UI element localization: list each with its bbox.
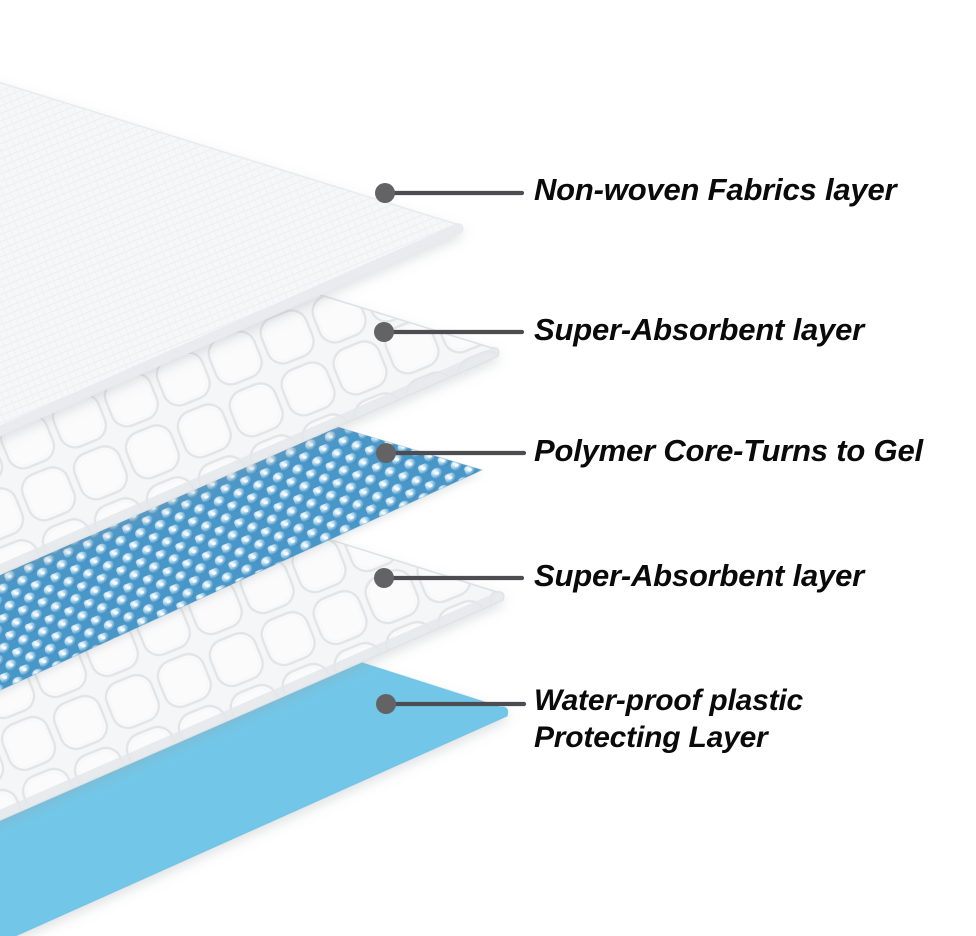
callout-label-super-absorbent-bottom: Super-Absorbent layer xyxy=(534,557,864,595)
callout-label-super-absorbent-top: Super-Absorbent layer xyxy=(534,311,864,349)
callout-label-polymer-core: Polymer Core-Turns to Gel xyxy=(534,432,923,470)
diagram-canvas: Non-woven Fabrics layer Super-Absorbent … xyxy=(0,0,976,936)
callout-label-water-proof-plastic: Water-proof plastic Protecting Layer xyxy=(534,682,803,756)
callout-label-non-woven-fabrics: Non-woven Fabrics layer xyxy=(534,171,896,209)
callout-leader-non-woven-fabrics[interactable] xyxy=(375,183,522,203)
